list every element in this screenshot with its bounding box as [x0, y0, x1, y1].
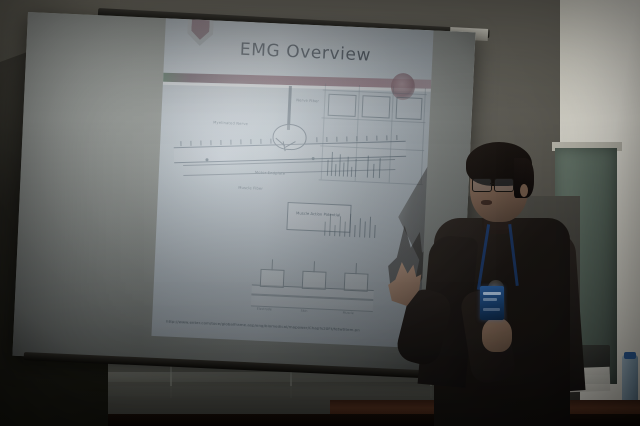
electrode-membrane-diagram: Electrode Skin Muscle [251, 258, 375, 317]
nmj-label: Muscle Fiber [238, 186, 263, 191]
nmj-label: Motor Endplate [255, 170, 285, 175]
slide-title: EMG Overview [210, 38, 401, 67]
nmj-label: Myelinated Nerve [213, 121, 248, 127]
electrode [260, 269, 285, 288]
presenter-ear [520, 184, 528, 197]
membrane-label: Muscle [343, 311, 354, 315]
muscle-action-potential-box [286, 202, 351, 233]
fiber-node [205, 158, 208, 161]
lecture-photo: EMG Overview [0, 0, 640, 426]
emg-spike-train [327, 150, 358, 177]
emg-spike-train [365, 151, 384, 178]
membrane-label: Electrode [257, 307, 272, 312]
glasses-bridge [490, 183, 495, 184]
emg-cell [328, 94, 357, 117]
electrode [302, 271, 327, 290]
electrode [344, 273, 369, 292]
glasses-right-lens [494, 178, 514, 192]
bottle-cap [624, 352, 636, 359]
fiber-node [312, 157, 315, 160]
projected-slide: EMG Overview [151, 18, 433, 348]
glasses-left-lens [472, 178, 492, 192]
presenter [420, 140, 590, 426]
membrane-label: Skin [301, 309, 308, 313]
emg-cell [396, 97, 423, 120]
nmj-label: Nerve Fiber [296, 98, 319, 103]
presenter-mic-hand [482, 318, 512, 352]
emg-cell [362, 95, 391, 118]
presenter-mouth [481, 200, 492, 205]
slide-source-url: http://www.enter.com/toce/globalframe.as… [166, 319, 410, 335]
id-badge [480, 286, 504, 320]
